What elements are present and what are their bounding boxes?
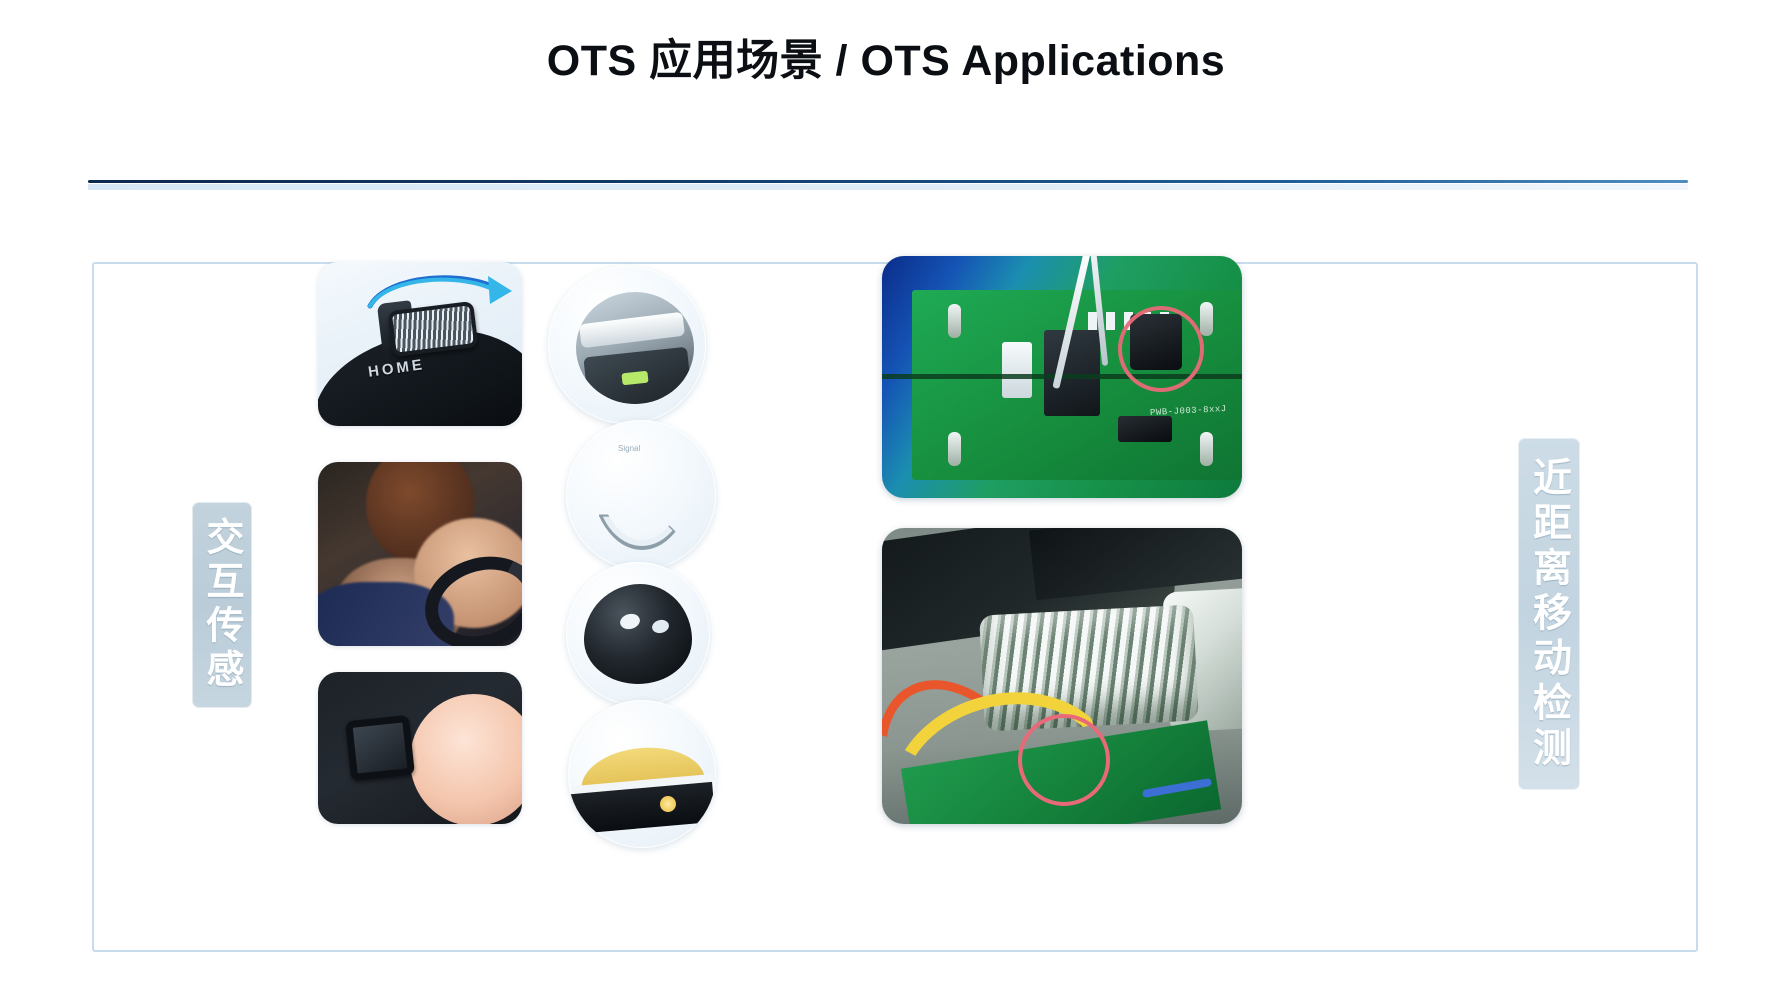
category-badge-right-label: 近距离移动检测 [1530, 457, 1569, 772]
header-rule-dark [88, 180, 1688, 183]
pcb-post-2 [948, 432, 961, 466]
pcb-black-component-lower [1118, 416, 1172, 442]
icon-gold-layer-cross-section [568, 700, 716, 848]
photo-fingertip-on-sensor [318, 672, 522, 824]
highlight-circle-pcb [1118, 306, 1204, 392]
flex-arc-highlight [596, 484, 688, 546]
page-title: OTS 应用场景 / OTS Applications [0, 26, 1772, 88]
earbud-body-shape [584, 584, 692, 684]
rotation-arrow-icon [362, 266, 522, 320]
icon2-small-label: Signal [618, 444, 640, 453]
highlight-circle-bolt [1018, 714, 1110, 806]
icon-sensor-module-chip [548, 266, 706, 424]
fingertip-shape [410, 694, 522, 824]
photo-watch-crown-rotation: HOME [318, 262, 522, 426]
photo-pcb-probe-test: PWB-J003-8xxJ [882, 256, 1242, 498]
photo-bolt-proximity-detection [882, 528, 1242, 824]
pcb-white-connector [1002, 342, 1032, 398]
white-bar-shape [579, 312, 685, 348]
category-badge-left-label: 交互传感 [203, 517, 241, 693]
sensor-module-shape [345, 715, 415, 781]
category-badge-interactive-sensing: 交互传感 [192, 502, 252, 708]
slide-canvas: OTS 应用场景 / OTS Applications 交互传感 近距离移动检测… [0, 0, 1772, 995]
header-rule-light [88, 184, 1688, 190]
pcb-main-chip [1044, 330, 1100, 416]
pcb-post-1 [948, 304, 961, 338]
photo-wrist-wearable-hand [318, 462, 522, 646]
icon-glossy-earbud-module [566, 562, 710, 706]
icon1-inner [576, 292, 694, 404]
pcb-post-4 [1200, 432, 1213, 466]
icon-curved-flex-arc: Signal [566, 420, 716, 570]
category-badge-proximity-motion: 近距离移动检测 [1518, 438, 1580, 790]
pcb-post-3 [1200, 302, 1213, 336]
